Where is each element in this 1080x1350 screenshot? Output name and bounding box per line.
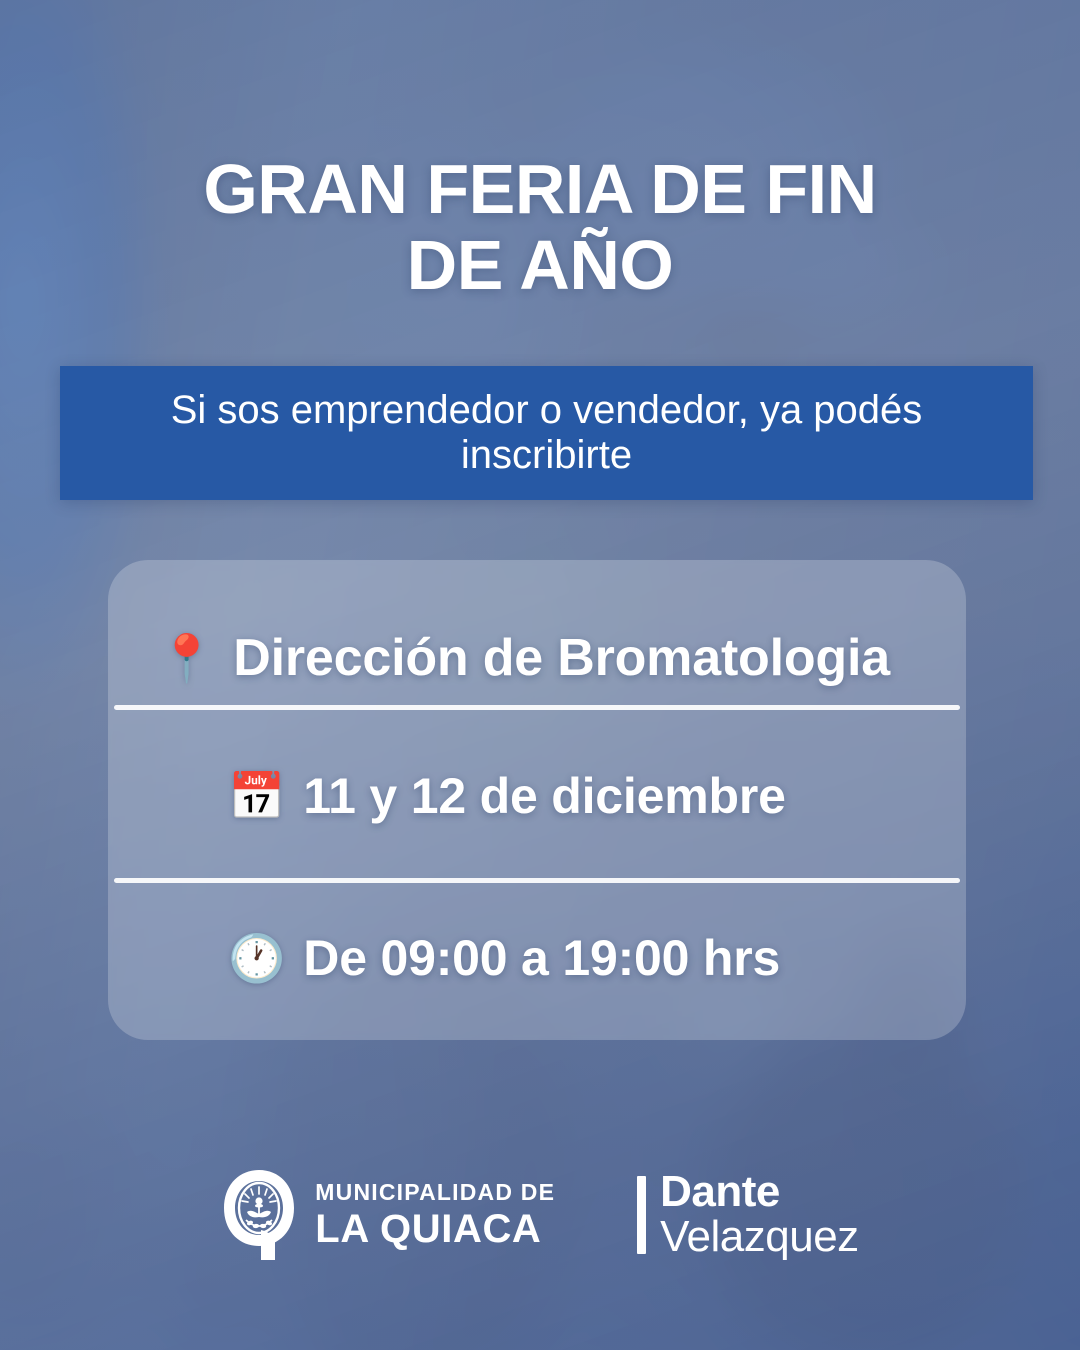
municipality-line-2: LA QUIACA [315, 1209, 555, 1249]
event-details-card: 📍 Dirección de Bromatologia 📅 11 y 12 de… [108, 560, 966, 1040]
detail-row-location: 📍 Dirección de Bromatologia [108, 612, 966, 704]
card-divider-2 [114, 878, 960, 883]
municipal-q-crest-icon [221, 1168, 297, 1262]
official-wordmark: Dante Velazquez [660, 1170, 859, 1260]
card-divider-1 [114, 705, 960, 710]
detail-row-time: 🕐 De 09:00 a 19:00 hrs [108, 912, 966, 1004]
footer-logos: MUNICIPALIDAD DE LA QUIACA Dante Velazqu… [0, 1160, 1080, 1270]
location-text: Dirección de Bromatologia [233, 628, 890, 688]
poster-canvas: GRAN FERIA DE FIN DE AÑO Si sos emprende… [0, 0, 1080, 1350]
poster-title: GRAN FERIA DE FIN DE AÑO [0, 152, 1080, 303]
municipality-line-1: MUNICIPALIDAD DE [315, 1181, 555, 1204]
official-logo: Dante Velazquez [637, 1170, 859, 1260]
location-pin-icon: 📍 [158, 635, 215, 681]
registration-banner-text: Si sos emprendedor o vendedor, ya podés … [60, 388, 1033, 478]
registration-banner: Si sos emprendedor o vendedor, ya podés … [60, 366, 1033, 500]
detail-row-date: 📅 11 y 12 de diciembre [108, 750, 966, 842]
title-line-2: DE AÑO [90, 228, 990, 304]
title-line-1: GRAN FERIA DE FIN [90, 152, 990, 228]
municipality-wordmark: MUNICIPALIDAD DE LA QUIACA [315, 1181, 555, 1249]
official-last-name: Velazquez [660, 1215, 859, 1260]
time-text: De 09:00 a 19:00 hrs [303, 929, 780, 987]
date-text: 11 y 12 de diciembre [303, 767, 785, 825]
vertical-bar-divider [637, 1176, 646, 1254]
municipality-logo: MUNICIPALIDAD DE LA QUIACA [221, 1168, 555, 1262]
clock-icon: 🕐 [228, 935, 285, 981]
official-first-name: Dante [660, 1170, 859, 1215]
calendar-icon: 📅 [228, 773, 285, 819]
